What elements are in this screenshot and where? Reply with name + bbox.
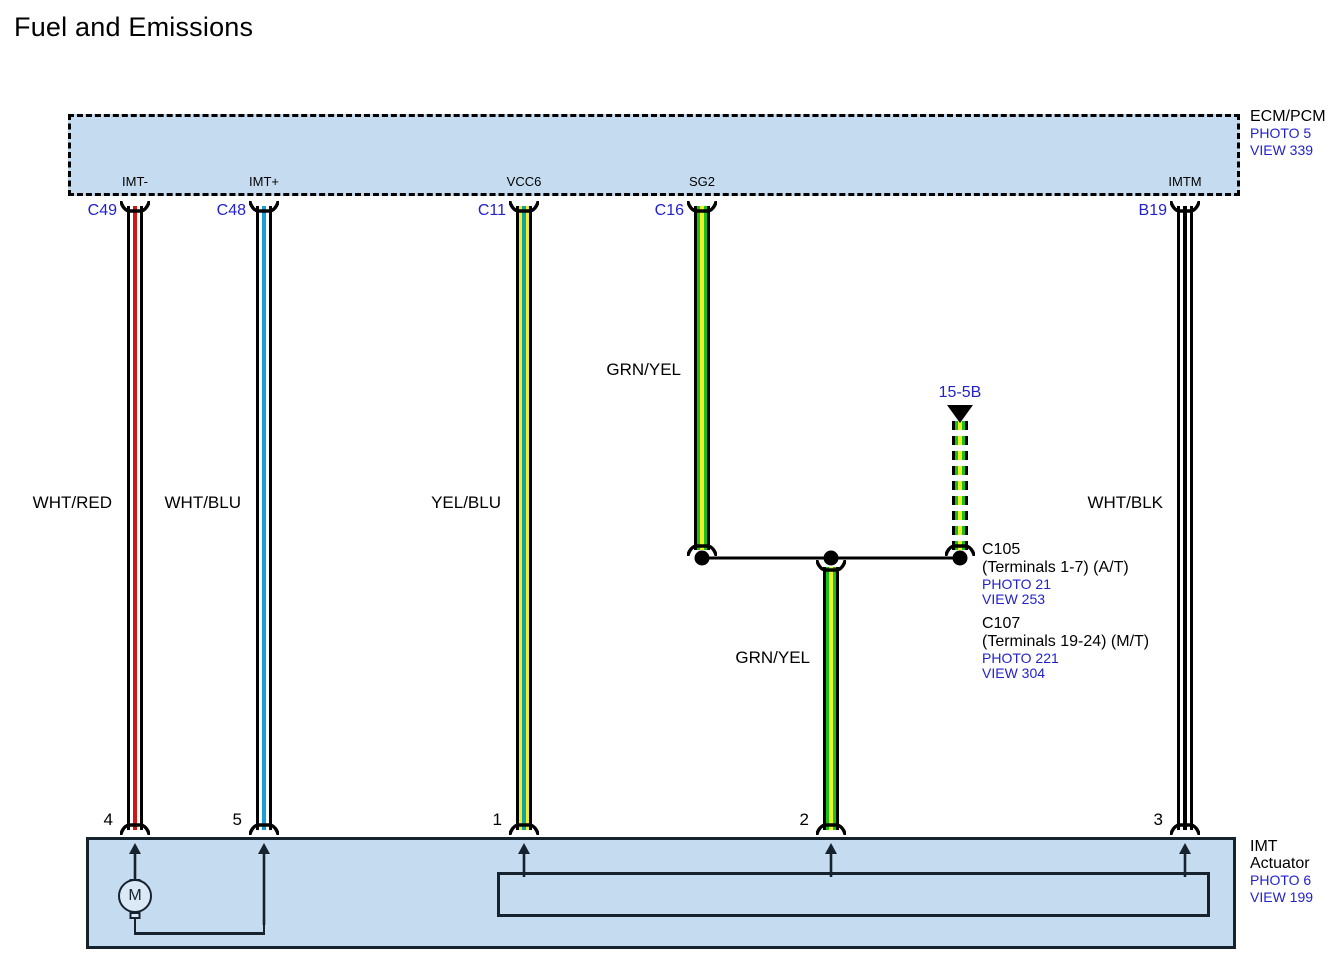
connector-id-b19: B19 <box>1139 202 1167 220</box>
ecm-pin-label-sg2: SG2 <box>689 174 715 189</box>
page-title: Fuel and Emissions <box>14 12 253 43</box>
ecm-pcm-module-box <box>68 114 1240 196</box>
terminal-cap-bottom-yel-blu <box>509 822 539 835</box>
actuator-arrow-terminal-1 <box>516 843 532 877</box>
wire-grn-yel-dashed-stub <box>952 421 968 550</box>
down-arrow-icon <box>947 405 973 423</box>
c105-photo-ref: PHOTO 21 <box>982 577 1149 592</box>
wire-wht-blk <box>1177 206 1193 830</box>
actuator-name-line1: IMT <box>1250 838 1278 855</box>
wire-color-label-grn-yel-upper: GRN/YEL <box>606 360 681 380</box>
actuator-arrow-terminal-5 <box>256 843 272 925</box>
actuator-terminal-number-1: 1 <box>493 810 502 830</box>
actuator-arrow-terminal-3 <box>1177 843 1193 877</box>
actuator-view-ref: VIEW 199 <box>1250 889 1313 906</box>
wire-color-label-wht-red: WHT/RED <box>33 493 112 513</box>
actuator-terminal-number-4: 4 <box>104 810 113 830</box>
motor-symbol: M <box>118 879 152 913</box>
actuator-name-line2: Actuator <box>1250 855 1310 872</box>
imt-actuator-inner-block <box>497 872 1210 917</box>
motor-lead-horizontal <box>134 932 265 935</box>
connector-id-c48: C48 <box>217 202 246 220</box>
connector-c105-detail: (Terminals 1-7) (A/T) <box>982 559 1129 576</box>
splice-dot-1 <box>695 551 710 566</box>
wire-color-label-grn-yel-lower: GRN/YEL <box>735 648 810 668</box>
splice-dot-2 <box>824 551 839 566</box>
wiring-diagram-page: Fuel and Emissions IMT-C49IMT+C48VCC6C11… <box>0 0 1334 966</box>
splice-connector-caption: C105 (Terminals 1-7) (A/T) PHOTO 21 VIEW… <box>982 541 1149 681</box>
ecm-photo-ref: PHOTO 5 <box>1250 125 1326 142</box>
wire-wht-red <box>127 206 143 830</box>
motor-terminal-tab-bottom <box>130 912 141 919</box>
c107-photo-ref: PHOTO 221 <box>982 651 1149 666</box>
connector-c107-label: C107 <box>982 615 1020 632</box>
motor-lead-riser <box>263 922 266 934</box>
wire-wht-blu <box>256 206 272 830</box>
actuator-terminal-number-3: 3 <box>1154 810 1163 830</box>
terminal-cap-top-wht-blu <box>249 201 279 214</box>
terminal-cap-bottom-wht-blu <box>249 822 279 835</box>
terminal-cap-top-yel-blu <box>509 201 539 214</box>
wire-grn-yel-lower <box>823 567 839 830</box>
terminal-cap-bottom-wht-red <box>120 822 150 835</box>
terminal-cap-top-grn-yel-upper <box>687 201 717 214</box>
connector-id-c16: C16 <box>655 202 684 220</box>
ecm-pin-label-imt: IMT+ <box>249 174 279 189</box>
wire-color-label-yel-blu: YEL/BLU <box>431 493 501 513</box>
connector-c105-label: C105 <box>982 541 1020 558</box>
ecm-pcm-name: ECM/PCM <box>1250 108 1326 125</box>
terminal-cap-bottom-wht-blk <box>1170 822 1200 835</box>
ecm-pcm-caption: ECM/PCM PHOTO 5 VIEW 339 <box>1250 108 1326 159</box>
ecm-pin-label-imt: IMT- <box>122 174 148 189</box>
wire-grn-yel-upper <box>694 206 710 550</box>
wire-color-label-wht-blk: WHT/BLK <box>1087 493 1163 513</box>
connector-id-c11: C11 <box>478 202 506 220</box>
splice-dot-3 <box>953 551 968 566</box>
actuator-arrow-terminal-2 <box>823 843 839 877</box>
terminal-cap-top-wht-blk <box>1170 201 1200 214</box>
ecm-pin-label-imtm: IMTM <box>1168 174 1201 189</box>
wire-yel-blu <box>516 206 532 830</box>
marker-15-5b-label: 15-5B <box>939 384 982 402</box>
actuator-terminal-number-2: 2 <box>800 810 809 830</box>
connector-c107-detail: (Terminals 19-24) (M/T) <box>982 633 1149 650</box>
ecm-view-ref: VIEW 339 <box>1250 142 1326 159</box>
actuator-photo-ref: PHOTO 6 <box>1250 872 1313 889</box>
ecm-pin-label-vcc6: VCC6 <box>507 174 542 189</box>
terminal-cap-bottom-grn-yel-lower <box>816 822 846 835</box>
connector-id-c49: C49 <box>88 202 117 220</box>
imt-actuator-caption: IMT Actuator PHOTO 6 VIEW 199 <box>1250 838 1313 906</box>
actuator-terminal-number-5: 5 <box>233 810 242 830</box>
c105-view-ref: VIEW 253 <box>982 592 1149 607</box>
c107-view-ref: VIEW 304 <box>982 666 1149 681</box>
terminal-cap-top-wht-red <box>120 201 150 214</box>
wire-color-label-wht-blu: WHT/BLU <box>165 493 242 513</box>
